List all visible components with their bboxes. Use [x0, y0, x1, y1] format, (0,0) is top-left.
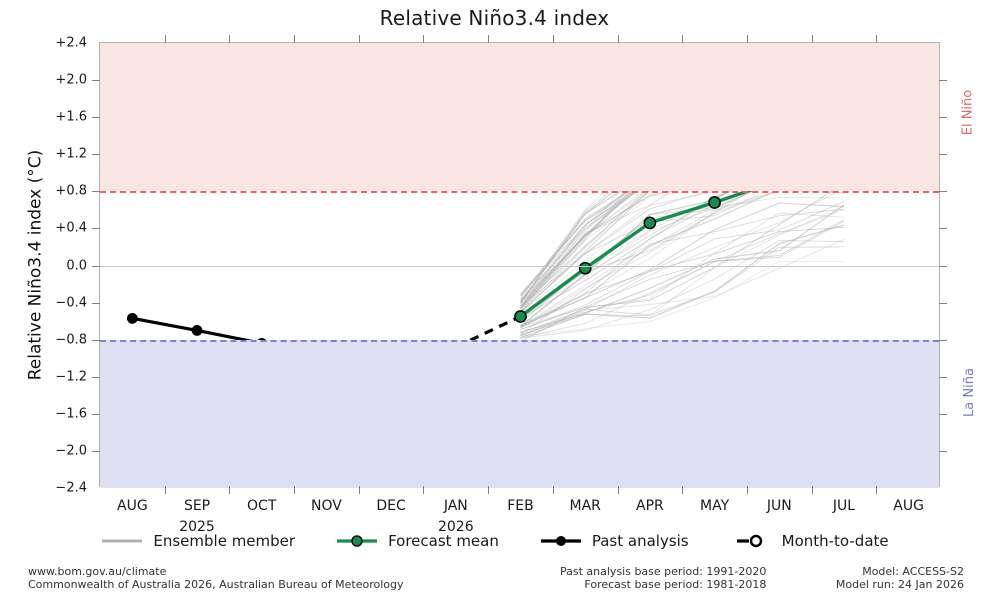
x-axis-month-label: SEP: [184, 498, 210, 514]
y-axis-tick-right: [939, 228, 947, 229]
chart-legend: Ensemble memberForecast meanPast analysi…: [0, 528, 989, 554]
y-axis-tick-label: −2.0: [55, 443, 87, 458]
y-axis-tick-label: +0.4: [55, 221, 87, 236]
el-nino-annotation: El Niño: [945, 105, 989, 120]
la-nina-band: [100, 340, 939, 488]
y-axis-tick: [92, 266, 100, 267]
y-axis-tick-right: [939, 303, 947, 304]
x-axis-tick: [488, 486, 489, 494]
page-title: Relative Niño3.4 index: [0, 6, 989, 30]
y-axis-tick-right: [939, 451, 947, 452]
legend-item-label: Past analysis: [592, 532, 689, 550]
x-axis-tick-top: [812, 35, 813, 43]
footer-left: www.bom.gov.au/climate Commonwealth of A…: [28, 565, 403, 592]
y-axis-title: Relative Niño3.4 index (°C): [24, 42, 46, 487]
y-axis-tick-label: −0.4: [55, 295, 87, 310]
legend-item-line-black-dot[interactable]: Past analysis: [539, 532, 689, 550]
x-axis-month-label: MAR: [569, 498, 600, 514]
forecast-mean-point: [515, 311, 526, 322]
legend-item-label: Ensemble member: [153, 532, 295, 550]
y-axis-title-text: Relative Niño3.4 index (°C): [25, 149, 45, 380]
y-axis-tick-label: +1.6: [55, 110, 87, 125]
x-axis-month-label: APR: [636, 498, 664, 514]
x-axis-month-label: OCT: [247, 498, 276, 514]
legend-item-line-grey[interactable]: Ensemble member: [100, 532, 295, 550]
x-axis-tick: [812, 486, 813, 494]
y-axis-tick: [92, 117, 100, 118]
x-axis-month-label: FEB: [507, 498, 534, 514]
x-axis-tick: [165, 486, 166, 494]
legend-item-label: Month-to-date: [782, 532, 889, 550]
footer-forecast-base-period: Forecast base period: 1981-2018: [560, 578, 766, 591]
y-axis-tick-label: −0.8: [55, 332, 87, 347]
footer-past-base-period: Past analysis base period: 1991-2020: [560, 565, 766, 578]
x-axis-tick-top: [359, 35, 360, 43]
zero-line: [100, 266, 939, 267]
y-axis-tick: [92, 80, 100, 81]
past-analysis-point: [127, 313, 138, 324]
x-axis-tick: [618, 486, 619, 494]
y-axis-tick: [92, 414, 100, 415]
legend-item-line-green-dot[interactable]: Forecast mean: [335, 532, 499, 550]
y-axis-tick-label: +2.0: [55, 73, 87, 88]
y-axis-tick: [92, 154, 100, 155]
y-axis-tick: [92, 228, 100, 229]
y-axis-tick-right: [939, 340, 947, 341]
x-axis-tick: [682, 486, 683, 494]
x-axis-tick: [553, 486, 554, 494]
x-axis-month-label: JUN: [767, 498, 792, 514]
x-axis-tick: [747, 486, 748, 494]
y-axis-tick-right: [939, 80, 947, 81]
legend-marker-icon: [335, 533, 379, 549]
forecast-mean-point: [644, 217, 655, 228]
y-axis-tick-right: [939, 414, 947, 415]
x-axis-tick-top: [876, 35, 877, 43]
forecast-mean-point: [580, 263, 591, 274]
footer-website: www.bom.gov.au/climate: [28, 565, 403, 578]
footer-model: Model: ACCESS-S2: [836, 565, 964, 578]
footer-copyright: Commonwealth of Australia 2026, Australi…: [28, 578, 403, 591]
climate-forecast-chart: Relative Niño3.4 index Relative Niño3.4 …: [0, 0, 989, 594]
legend-dot: [556, 536, 566, 546]
footer-model-run: Model run: 24 Jan 2026: [836, 578, 964, 591]
y-axis-tick-right: [939, 191, 947, 192]
past-analysis-point: [192, 325, 203, 336]
legend-marker-icon: [729, 533, 773, 549]
x-axis-tick-top: [423, 35, 424, 43]
y-axis-tick: [92, 377, 100, 378]
ensemble-member-line: [521, 261, 845, 336]
el-nino-band: [100, 43, 939, 191]
legend-item-label: Forecast mean: [388, 532, 499, 550]
legend-marker-icon: [100, 533, 144, 549]
x-axis-tick-top: [294, 35, 295, 43]
x-axis-tick: [229, 486, 230, 494]
y-axis-tick-label: −1.2: [55, 369, 87, 384]
y-axis-tick-right: [939, 266, 947, 267]
legend-dot: [352, 536, 362, 546]
y-axis-tick: [92, 340, 100, 341]
x-axis-tick: [423, 486, 424, 494]
la-nina-annotation: La Niña: [945, 385, 989, 400]
y-axis-tick-right: [939, 377, 947, 378]
x-axis-month-label: JUL: [833, 498, 855, 514]
y-axis-tick-label: +1.2: [55, 147, 87, 162]
legend-open-dot: [751, 536, 761, 546]
y-axis-tick: [92, 451, 100, 452]
x-axis-month-label: JAN: [444, 498, 468, 514]
y-axis-tick-label: +0.8: [55, 184, 87, 199]
x-axis-tick: [359, 486, 360, 494]
y-axis-tick-right: [939, 154, 947, 155]
x-axis-tick-top: [553, 35, 554, 43]
y-axis-tick-label: +2.4: [55, 36, 87, 51]
plot-area: +2.4+2.0+1.6+1.2+0.8+0.40.0−0.4−0.8−1.2−…: [99, 42, 940, 487]
x-axis-month-label: NOV: [311, 498, 342, 514]
el-nino-threshold-line: [100, 191, 939, 193]
x-axis-tick-top: [682, 35, 683, 43]
x-axis-month-label: AUG: [117, 498, 148, 514]
la-nina-threshold-line: [100, 340, 939, 342]
footer-right: Past analysis base period: 1991-2020 For…: [560, 565, 964, 592]
x-axis-month-label: DEC: [376, 498, 405, 514]
x-axis-month-label: MAY: [700, 498, 729, 514]
legend-item-line-black-open[interactable]: Month-to-date: [729, 532, 889, 550]
forecast-mean-point: [709, 197, 720, 208]
x-axis-tick-top: [747, 35, 748, 43]
x-axis-tick: [294, 486, 295, 494]
x-axis-tick-top: [165, 35, 166, 43]
x-axis-month-label: AUG: [893, 498, 924, 514]
y-axis-tick: [92, 191, 100, 192]
x-axis-tick-top: [488, 35, 489, 43]
x-axis-tick-top: [618, 35, 619, 43]
y-axis-tick-label: 0.0: [66, 258, 87, 273]
x-axis-tick: [876, 486, 877, 494]
y-axis-tick-label: −2.4: [55, 481, 87, 496]
y-axis-tick: [92, 303, 100, 304]
legend-marker-icon: [539, 533, 583, 549]
x-axis-tick-top: [229, 35, 230, 43]
y-axis-tick-label: −1.6: [55, 406, 87, 421]
